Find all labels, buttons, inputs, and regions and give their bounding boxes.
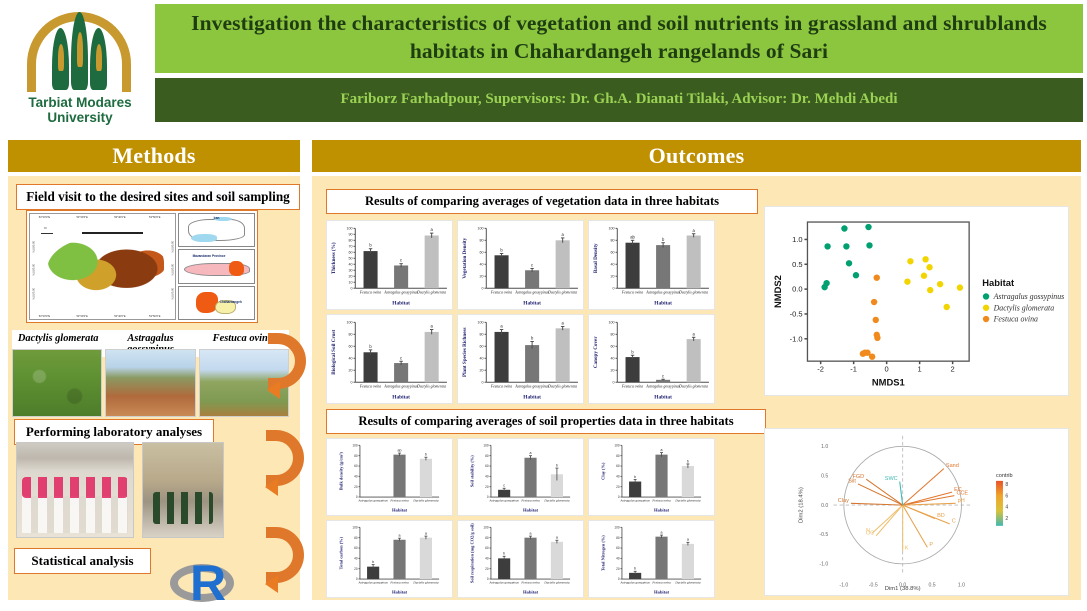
svg-text:a: a (661, 448, 663, 452)
svg-text:Festuca ovina: Festuca ovina (490, 290, 512, 294)
svg-text:10: 10 (349, 281, 353, 285)
svg-text:Habitat: Habitat (392, 508, 408, 513)
svg-text:Vegetation Density: Vegetation Density (462, 237, 468, 278)
svg-text:-0.5: -0.5 (790, 310, 803, 319)
svg-text:c: c (400, 258, 402, 263)
svg-text:70: 70 (349, 245, 353, 249)
r-logo-letter: R (190, 560, 226, 606)
svg-text:b: b (425, 453, 427, 457)
svg-text:ab: ab (630, 234, 635, 239)
svg-text:contrib: contrib (996, 473, 1013, 479)
flow-arrow-icon-1 (268, 333, 308, 395)
svg-text:Dactylis glomerata: Dactylis glomerata (674, 498, 700, 502)
photo-lab-flasks (142, 442, 224, 538)
photo-astragalus-gossypinus (105, 349, 195, 417)
svg-text:2: 2 (1005, 516, 1008, 522)
svg-text:Basal Density: Basal Density (593, 243, 599, 273)
svg-text:20: 20 (354, 567, 358, 571)
svg-text:100: 100 (352, 443, 358, 447)
svg-text:Habitat: Habitat (654, 301, 672, 307)
svg-text:Festuca ovina: Festuca ovina (651, 580, 671, 584)
svg-text:50: 50 (349, 257, 353, 261)
svg-text:Dactylis glomerata: Dactylis glomerata (412, 498, 438, 502)
svg-text:Habitat: Habitat (392, 395, 410, 401)
svg-text:100: 100 (346, 227, 352, 231)
svg-text:Clay (%): Clay (%) (601, 462, 606, 480)
chart-soil-bulk-density: 020406080100Astragalus gossypinusabFestu… (326, 438, 453, 516)
svg-text:20: 20 (611, 275, 615, 279)
poster-title: Investigation the characteristics of veg… (155, 4, 1083, 73)
svg-text:Dactylis glomerata: Dactylis glomerata (678, 290, 708, 294)
svg-text:80: 80 (354, 536, 358, 540)
svg-text:40: 40 (354, 557, 358, 561)
svg-text:100: 100 (352, 525, 358, 529)
mazandaran-inset-label: Mazandaran Province (193, 254, 226, 258)
svg-text:Sand: Sand (946, 463, 959, 469)
svg-text:20: 20 (349, 275, 353, 279)
svg-text:0.5: 0.5 (792, 260, 802, 269)
chahardangeh-inset-map: Chahardangeh (178, 286, 255, 320)
svg-text:P: P (929, 542, 933, 548)
svg-text:40: 40 (616, 557, 620, 561)
svg-text:a: a (556, 536, 558, 540)
svg-text:1: 1 (918, 365, 922, 374)
svg-text:Dactylis glomerata: Dactylis glomerata (412, 580, 438, 584)
svg-text:4: 4 (1005, 505, 1008, 511)
svg-text:0: 0 (482, 381, 484, 385)
svg-text:Habitat: Habitat (523, 395, 541, 401)
svg-text:1.0: 1.0 (792, 235, 802, 244)
svg-text:Festuca ovina: Festuca ovina (490, 384, 512, 388)
iran-inset-map: Iran (178, 213, 255, 247)
chart-basal-density: 020406080100abFestuca ovinabAstragalus g… (588, 220, 715, 310)
svg-text:Dactylis glomerata: Dactylis glomerata (547, 290, 577, 294)
svg-text:Astragalus gossypinus: Astragalus gossypinus (993, 292, 1065, 301)
svg-text:20: 20 (480, 369, 484, 373)
svg-text:Habitat: Habitat (654, 590, 670, 595)
svg-text:b: b (531, 336, 534, 341)
svg-text:30: 30 (349, 269, 353, 273)
svg-text:Thickness (%): Thickness (%) (330, 242, 337, 274)
chart-total-nitrogen: 020406080100bAstragalus gossypinusaFestu… (588, 520, 715, 598)
svg-text:Soil stability (%): Soil stability (%) (470, 455, 475, 487)
chart-total-carbon: 020406080100bAstragalus gossypinusaFestu… (326, 520, 453, 598)
chart-nmds-ordination: -2-1012-1.0-0.50.00.51.0NMDS1NMDS2Habita… (764, 206, 1069, 396)
svg-text:0: 0 (885, 365, 889, 374)
methods-panel: Field visit to the desired sites and soi… (8, 176, 300, 600)
chart-canopy-cover: 020406080100bFestuca ovinacAstragalus go… (588, 314, 715, 404)
svg-text:Festuca ovina: Festuca ovina (359, 384, 381, 388)
svg-text:Astragalus gossypinus: Astragalus gossypinus (514, 384, 549, 388)
svg-text:8: 8 (1005, 482, 1008, 488)
svg-text:0: 0 (613, 381, 615, 385)
svg-text:60: 60 (354, 464, 358, 468)
svg-text:80: 80 (349, 333, 353, 337)
svg-text:100: 100 (483, 443, 489, 447)
svg-text:40: 40 (480, 263, 484, 267)
svg-text:Total Nitrogen (%): Total Nitrogen (%) (601, 535, 606, 571)
svg-text:80: 80 (611, 333, 615, 337)
svg-text:60: 60 (349, 251, 353, 255)
flow-arrow-icon-3 (266, 527, 306, 589)
svg-text:100: 100 (614, 443, 620, 447)
svg-text:Festuca ovina: Festuca ovina (520, 580, 540, 584)
logo-emblem-icon (21, 2, 139, 94)
svg-text:0.0: 0.0 (792, 285, 802, 294)
chart-thickness: 0102030405060708090100bFestuca ovinacAst… (326, 220, 453, 310)
svg-text:20: 20 (485, 485, 489, 489)
svg-text:-2: -2 (817, 365, 824, 374)
svg-text:c: c (662, 373, 664, 378)
svg-text:b: b (372, 560, 374, 564)
elevation-terrain-shape (47, 237, 163, 298)
svg-text:80: 80 (480, 333, 484, 337)
laboratory-photo-row (16, 442, 288, 538)
svg-text:40: 40 (616, 475, 620, 479)
svg-text:20: 20 (480, 275, 484, 279)
svg-text:40: 40 (349, 357, 353, 361)
poster-header: Tarbiat Modares University Investigation… (0, 0, 1087, 133)
svg-text:100: 100 (608, 321, 614, 325)
svg-text:a: a (562, 321, 565, 326)
university-logo: Tarbiat Modares University (10, 2, 150, 130)
svg-text:0: 0 (351, 287, 353, 291)
svg-text:100: 100 (614, 525, 620, 529)
svg-text:80: 80 (616, 536, 620, 540)
svg-text:Astragalus gossypinus: Astragalus gossypinus (357, 580, 388, 584)
vegetation-results-caption: Results of comparing averages of vegetat… (326, 189, 758, 214)
svg-text:Dactylis glomerata: Dactylis glomerata (543, 498, 569, 502)
species-photo-row (12, 349, 289, 417)
svg-text:c: c (400, 355, 402, 360)
svg-text:a: a (431, 227, 434, 232)
svg-text:Astragalus gossypinus: Astragalus gossypinus (357, 498, 388, 502)
svg-text:0.5: 0.5 (928, 582, 935, 588)
map-inset-column: Iran Mazandaran Province Chahardangeh (178, 213, 255, 320)
svg-text:ab: ab (398, 448, 402, 452)
methods-step-field-visit: Field visit to the desired sites and soi… (16, 184, 300, 210)
svg-text:SWC: SWC (885, 476, 898, 482)
svg-text:a: a (425, 531, 427, 535)
svg-text:100: 100 (483, 525, 489, 529)
svg-text:a: a (661, 530, 663, 534)
svg-text:Festuca ovina: Festuca ovina (359, 290, 381, 294)
university-name: Tarbiat Modares University (28, 96, 131, 125)
svg-text:K: K (905, 546, 909, 552)
chahardangeh-inset-label: Chahardangeh (220, 300, 242, 304)
svg-text:Habitat: Habitat (392, 301, 410, 307)
svg-text:20: 20 (611, 369, 615, 373)
svg-text:Habitat: Habitat (392, 590, 408, 595)
svg-text:0: 0 (482, 287, 484, 291)
svg-text:a: a (693, 228, 696, 233)
svg-text:Astragalus gossypinus: Astragalus gossypinus (645, 384, 680, 388)
svg-text:a: a (399, 534, 401, 538)
svg-text:20: 20 (349, 369, 353, 373)
svg-text:Habitat: Habitat (523, 590, 539, 595)
svg-text:NMDS2: NMDS2 (772, 275, 783, 308)
svg-text:40: 40 (480, 357, 484, 361)
chart-plant-species-richness: 020406080100aFestuca ovinabAstragalus go… (457, 314, 584, 404)
title-block: Investigation the characteristics of veg… (155, 4, 1083, 122)
svg-text:0: 0 (613, 287, 615, 291)
svg-text:OC: OC (866, 530, 874, 536)
svg-text:Dactylis glomerata: Dactylis glomerata (678, 384, 708, 388)
svg-text:Dim1 (38.8%): Dim1 (38.8%) (885, 586, 921, 592)
svg-text:Plant Species Richness: Plant Species Richness (462, 328, 468, 378)
svg-text:Dactylis glomerata: Dactylis glomerata (543, 580, 569, 584)
svg-text:100: 100 (346, 321, 352, 325)
svg-text:80: 80 (354, 454, 358, 458)
svg-text:Dactylis glomerata: Dactylis glomerata (416, 290, 446, 294)
chart-soil-respiration: 020406080100bAstragalus gossypinusaFestu… (457, 520, 584, 598)
svg-text:Habitat: Habitat (654, 395, 672, 401)
chart-vegetation-density: 020406080100bFestuca ovinacAstragalus go… (457, 220, 584, 310)
svg-text:Dactylis glomerata: Dactylis glomerata (416, 384, 446, 388)
svg-text:Dactylis glomerata: Dactylis glomerata (547, 384, 577, 388)
svg-text:Astragalus gossypinus: Astragalus gossypinus (514, 290, 549, 294)
mazandaran-inset-map: Mazandaran Province (178, 249, 255, 283)
svg-text:2: 2 (951, 365, 955, 374)
svg-text:80: 80 (480, 239, 484, 243)
svg-text:Astragalus gossypinus: Astragalus gossypinus (488, 580, 519, 584)
soil-results-caption: Results of comparing averages of soil pr… (326, 409, 766, 434)
svg-text:Soil respiration (mg CO2/g soi: Soil respiration (mg CO2/g soil) (470, 523, 475, 583)
svg-text:1.0: 1.0 (821, 444, 828, 450)
svg-text:Astragalus gossypinus: Astragalus gossypinus (619, 580, 650, 584)
svg-text:Clay: Clay (838, 498, 849, 504)
svg-text:80: 80 (349, 239, 353, 243)
svg-text:Dactylis glomerata: Dactylis glomerata (993, 303, 1055, 312)
svg-text:20: 20 (616, 485, 620, 489)
svg-text:80: 80 (616, 454, 620, 458)
svg-text:80: 80 (485, 536, 489, 540)
methods-section-banner: Methods (8, 140, 300, 172)
svg-text:-0.5: -0.5 (819, 532, 828, 538)
svg-text:Astragalus gossypinus: Astragalus gossypinus (383, 290, 418, 294)
map-scale-bar (82, 228, 157, 235)
svg-text:Habitat: Habitat (654, 508, 670, 513)
photo-dactylis-glomerata (12, 349, 102, 417)
svg-text:40: 40 (485, 475, 489, 479)
svg-text:Habitat: Habitat (523, 508, 539, 513)
svg-text:60: 60 (354, 546, 358, 550)
chart-clay: 020406080100bAstragalus gossypinusaFestu… (588, 438, 715, 516)
svg-text:b: b (556, 463, 558, 467)
r-software-logo: R (170, 560, 236, 606)
svg-text:20: 20 (616, 567, 620, 571)
svg-text:-1.0: -1.0 (790, 334, 803, 343)
svg-text:Festuca ovina: Festuca ovina (621, 290, 643, 294)
outcomes-panel: Results of comparing averages of vegetat… (312, 176, 1081, 600)
svg-text:Festuca ovina: Festuca ovina (389, 498, 409, 502)
svg-text:b: b (631, 349, 634, 354)
svg-text:40: 40 (349, 263, 353, 267)
svg-text:-1.0: -1.0 (839, 582, 848, 588)
svg-text:0: 0 (351, 381, 353, 385)
svg-text:80: 80 (485, 454, 489, 458)
poster-authors: Fariborz Farhadpour, Supervisors: Dr. Gh… (155, 78, 1083, 122)
svg-text:Canopy Cover: Canopy Cover (593, 336, 599, 368)
svg-text:FGD: FGD (852, 474, 864, 480)
svg-text:pH: pH (958, 498, 965, 504)
svg-text:-1: -1 (850, 365, 857, 374)
svg-text:NMDS1: NMDS1 (872, 377, 905, 388)
svg-text:0.0: 0.0 (821, 503, 828, 509)
svg-text:40: 40 (611, 263, 615, 267)
svg-text:Astragalus gossypinus: Astragalus gossypinus (383, 384, 418, 388)
svg-text:b: b (687, 459, 689, 463)
svg-text:Festuca ovina: Festuca ovina (621, 384, 643, 388)
svg-text:60: 60 (485, 546, 489, 550)
svg-text:1.0: 1.0 (958, 582, 965, 588)
svg-text:100: 100 (477, 227, 483, 231)
svg-text:80: 80 (611, 239, 615, 243)
svg-text:40: 40 (485, 557, 489, 561)
svg-text:b: b (634, 567, 636, 571)
svg-text:Festuca ovina: Festuca ovina (389, 580, 409, 584)
methods-step-statistical-analysis: Statistical analysis (14, 548, 151, 574)
svg-text:60: 60 (485, 464, 489, 468)
svg-text:0.5: 0.5 (821, 473, 828, 479)
svg-text:Dactylis glomerata: Dactylis glomerata (674, 580, 700, 584)
svg-text:Habitat: Habitat (982, 277, 1014, 288)
svg-text:-1.0: -1.0 (819, 562, 828, 568)
svg-text:a: a (562, 232, 565, 237)
svg-text:Dim2 (18.4%): Dim2 (18.4%) (798, 487, 804, 523)
svg-text:Biological Soil Crust: Biological Soil Crust (331, 329, 337, 374)
svg-text:b: b (503, 552, 505, 556)
svg-text:a: a (687, 538, 689, 542)
svg-text:60: 60 (611, 251, 615, 255)
chart-biological-soil-crust: 020406080100bFestuca ovinacAstragalus go… (326, 314, 453, 404)
compass-icon (40, 227, 54, 239)
svg-text:a: a (530, 531, 532, 535)
svg-text:CCE: CCE (956, 490, 968, 496)
chart-pca-biplot: SandECCCEpHBDCPKNOCClaySiltFGDSWC-1.0-0.… (764, 428, 1069, 596)
photo-soil-sample-bags (16, 442, 134, 538)
svg-text:Festuca ovina: Festuca ovina (520, 498, 540, 502)
svg-text:a: a (693, 331, 696, 336)
svg-text:100: 100 (477, 321, 483, 325)
svg-text:C: C (952, 519, 956, 525)
svg-text:a: a (500, 324, 503, 329)
svg-text:100: 100 (608, 227, 614, 231)
svg-text:Bulk density (g/cm³): Bulk density (g/cm³) (339, 452, 344, 491)
flow-arrow-icon-2 (266, 430, 306, 492)
svg-text:Astragalus gossypinus: Astragalus gossypinus (645, 290, 680, 294)
chart-soil-stability: 020406080100cAstragalus gossypinusaFestu… (457, 438, 584, 516)
svg-text:Festuca ovina: Festuca ovina (651, 498, 671, 502)
svg-text:b: b (662, 237, 665, 242)
outcomes-section-banner: Outcomes (312, 140, 1081, 172)
map-main-panel: 53°20'0"E 53°30'0"E 53°40'0"E 53°50'0"E … (29, 213, 176, 320)
svg-text:60: 60 (616, 464, 620, 468)
svg-text:c: c (503, 484, 505, 488)
svg-text:b: b (634, 475, 636, 479)
svg-text:Astragalus gossypinus: Astragalus gossypinus (488, 498, 519, 502)
svg-text:40: 40 (611, 357, 615, 361)
svg-text:Festuca ovina: Festuca ovina (993, 315, 1038, 324)
svg-text:b: b (500, 248, 503, 253)
svg-text:60: 60 (480, 251, 484, 255)
svg-text:Total carbon (%): Total carbon (%) (339, 536, 344, 569)
svg-text:6: 6 (1005, 493, 1008, 499)
svg-text:60: 60 (349, 345, 353, 349)
svg-text:c: c (531, 263, 533, 268)
svg-text:Habitat: Habitat (523, 301, 541, 307)
svg-text:60: 60 (611, 345, 615, 349)
iran-inset-label: Iran (214, 216, 220, 220)
svg-text:b: b (369, 344, 372, 349)
svg-text:40: 40 (354, 475, 358, 479)
svg-text:b: b (369, 243, 372, 248)
study-area-map-figure: 53°20'0"E 53°30'0"E 53°40'0"E 53°50'0"E … (26, 210, 258, 323)
svg-text:60: 60 (616, 546, 620, 550)
svg-text:90: 90 (349, 233, 353, 237)
svg-text:20: 20 (354, 485, 358, 489)
svg-text:60: 60 (480, 345, 484, 349)
svg-text:Astragalus gossypinus: Astragalus gossypinus (619, 498, 650, 502)
svg-text:BD: BD (937, 513, 945, 519)
svg-text:20: 20 (485, 567, 489, 571)
svg-text:a: a (431, 324, 434, 329)
svg-text:-0.5: -0.5 (869, 582, 878, 588)
svg-text:a: a (530, 451, 532, 455)
